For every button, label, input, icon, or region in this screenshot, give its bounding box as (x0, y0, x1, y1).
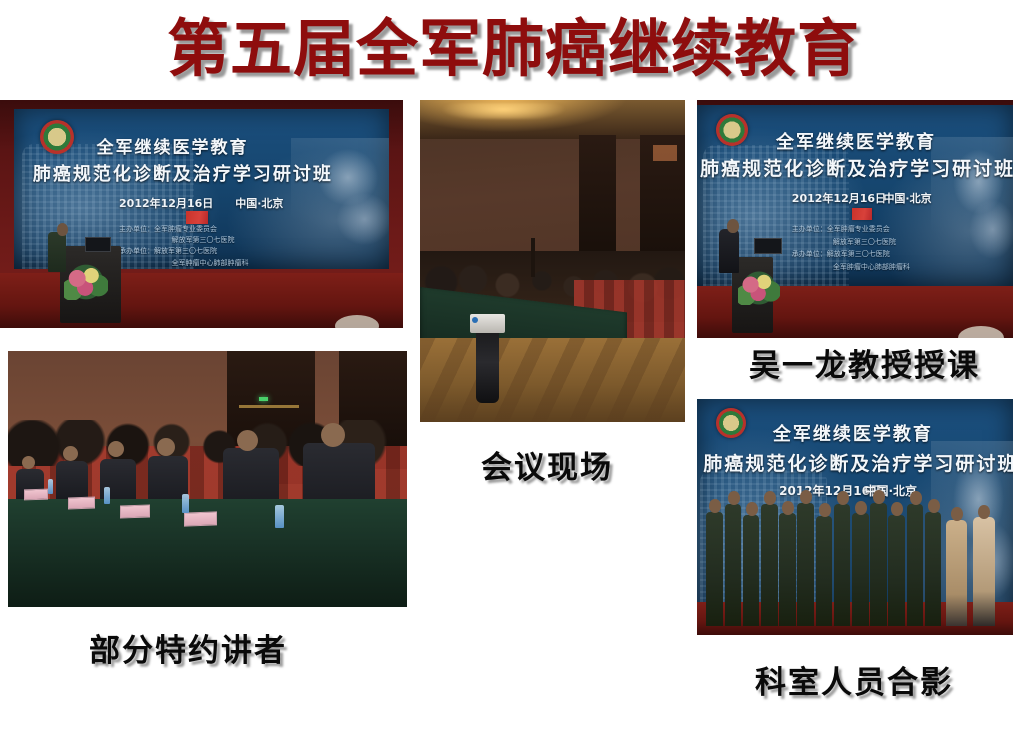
china-flag-graphic (852, 208, 872, 220)
banner-line1: 全军继续医学教育 (97, 133, 249, 158)
conference-hall-photo (420, 100, 685, 422)
caption-lecture: 吴一龙教授授课 (749, 348, 980, 384)
staff-member (797, 503, 814, 626)
banner-host-line2: 解放军第三〇七医院 (833, 237, 896, 247)
female-speaker-body (48, 232, 66, 272)
staff-member (870, 503, 887, 626)
female-speaker-head (57, 223, 68, 236)
civilian-head (951, 507, 963, 521)
banner-line1: 全军继续医学教育 (776, 128, 936, 154)
staff-member (779, 513, 796, 625)
wall-light-strip (239, 405, 299, 408)
civilian-head (978, 505, 990, 519)
staff-head (928, 499, 940, 513)
caption-venue: 会议现场 (481, 450, 613, 486)
banner-date: 2012年12月16日 (792, 190, 886, 206)
staff-member (725, 504, 742, 626)
banner-date: 2012年12月16日 (119, 195, 213, 211)
name-card-3 (120, 504, 150, 518)
wu-yilong-head (727, 219, 739, 233)
banner-location: 中国·北京 (235, 195, 283, 211)
speaker-head-2 (63, 446, 78, 461)
conference-banner: 全军继续医学教育 肺癌规范化诊断及治疗学习研讨班 2012年12月16日 中国·… (14, 109, 389, 269)
army-medical-emblem-icon (716, 408, 746, 438)
staff-head (728, 491, 740, 505)
staff-member (761, 504, 778, 626)
caption-group: 科室人员合影 (755, 665, 953, 701)
exit-sign-icon (259, 397, 268, 401)
flower-arrangement (738, 271, 780, 305)
water-bottle-3 (182, 494, 189, 513)
staff-head (819, 503, 831, 517)
department-group-photo: 全军继续医学教育 肺癌规范化诊断及治疗学习研讨班 2012年12月16日 中国·… (697, 399, 1013, 635)
staff-head (891, 502, 903, 516)
banner-host-line2: 解放军第三〇七医院 (172, 235, 235, 245)
banner-organizer-line1: 承办单位：解放军第三〇七医院 (119, 246, 217, 256)
china-flag-graphic (186, 211, 208, 224)
banner-line2: 肺癌规范化诊断及治疗学习研讨班 (700, 154, 1013, 181)
speaker-head-3 (108, 441, 124, 457)
laptop (85, 237, 111, 252)
staff-member (816, 516, 833, 626)
flower-arrangement (64, 264, 108, 300)
staff-head (837, 491, 849, 505)
staff-member (888, 515, 905, 626)
banner-people-graphic (291, 138, 388, 269)
staff-member (852, 513, 869, 625)
staff-head (800, 490, 812, 504)
wall-sconce (653, 145, 677, 161)
banner-line1: 全军继续医学教育 (773, 420, 933, 446)
page-title: 第五届全军肺癌继续教育 (0, 14, 1027, 84)
caption-speakers: 部分特约讲者 (89, 633, 287, 669)
staff-member (834, 504, 851, 626)
water-bottle-1 (48, 479, 53, 494)
name-card-1 (24, 489, 48, 501)
invited-speakers-photo (8, 351, 407, 607)
banner-organizer-line2: 全军肿瘤中心肺部肿瘤科 (172, 258, 249, 268)
name-card-4 (184, 512, 217, 527)
banner-organizer-line1: 承办单位：解放军第三〇七医院 (792, 249, 890, 259)
staff-head (873, 490, 885, 504)
laptop (754, 238, 782, 254)
staff-member (706, 512, 723, 626)
banner-line2: 肺癌规范化诊断及治疗学习研讨班 (33, 160, 333, 186)
water-bottle-4 (275, 505, 284, 528)
staff-member (907, 504, 924, 626)
army-medical-emblem-icon (716, 114, 748, 146)
staff-head (746, 502, 758, 516)
wu-yilong-body (719, 229, 739, 273)
staff-head (855, 501, 867, 515)
staff-group-row (703, 493, 1006, 625)
camera-tripod (531, 238, 535, 277)
civilian-attendee (946, 520, 967, 626)
banner-host-line1: 主办单位：全军肿瘤专业委员会 (792, 224, 890, 234)
staff-head (782, 501, 794, 515)
name-card-2 (68, 496, 95, 509)
projector-stand (476, 329, 500, 403)
banner-location: 中国·北京 (883, 190, 931, 206)
water-bottle-2 (104, 487, 110, 504)
speaker-head-6 (321, 423, 345, 447)
wu-yilong-lecture-photo: 全军继续医学教育 肺癌规范化诊断及治疗学习研讨班 2012年12月16日 中国·… (697, 100, 1013, 338)
hall-floor (420, 338, 685, 422)
opening-ceremony-photo: 全军继续医学教育 肺癌规范化诊断及治疗学习研讨班 2012年12月16日 中国·… (0, 100, 403, 328)
banner-host-line1: 主办单位：全军肿瘤专业委员会 (119, 224, 217, 234)
banner-organizer-line2: 全军肿瘤中心肺部肿瘤科 (833, 262, 910, 272)
speaker-head-1 (22, 456, 35, 469)
civilian-attendee (973, 517, 994, 625)
banner-line2: 肺癌规范化诊断及治疗学习研讨班 (703, 449, 1013, 476)
staff-head (910, 491, 922, 505)
ceiling-light-strip (431, 103, 577, 119)
staff-member (743, 515, 760, 626)
staff-member (925, 512, 942, 626)
